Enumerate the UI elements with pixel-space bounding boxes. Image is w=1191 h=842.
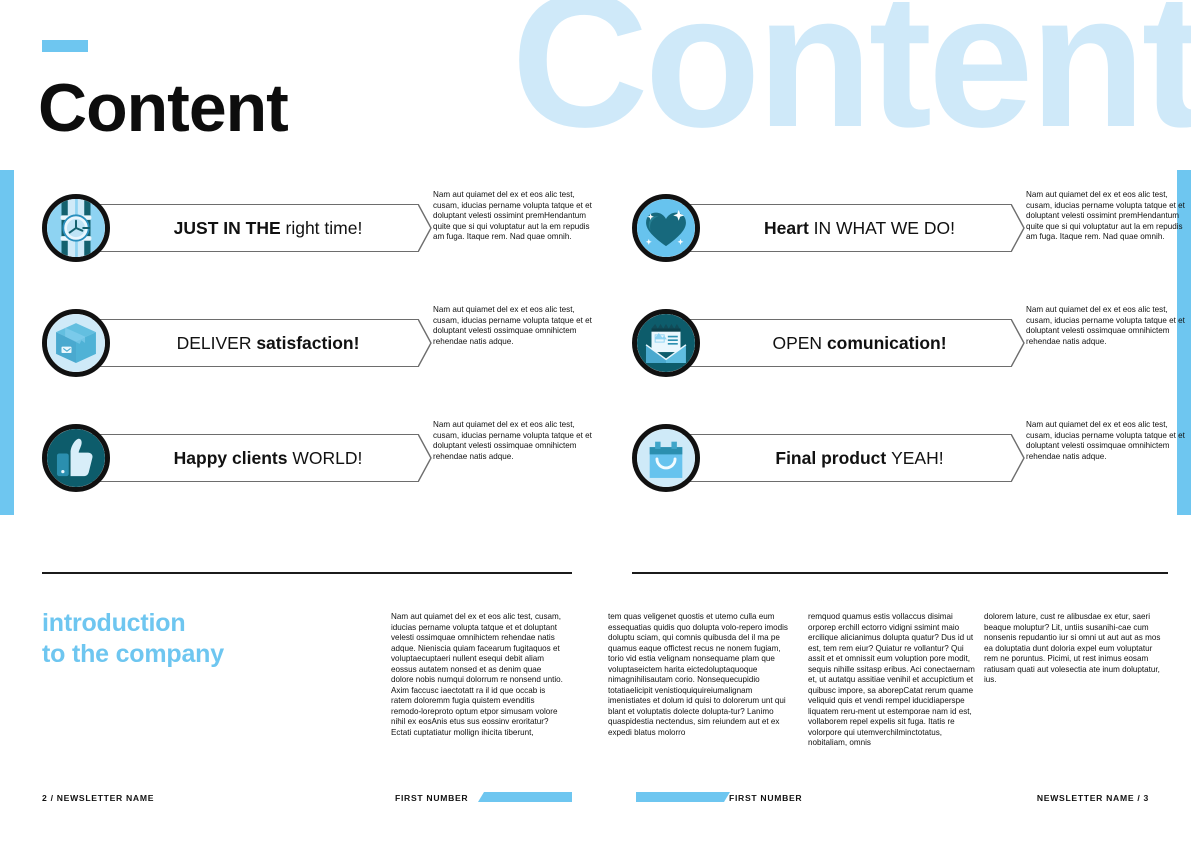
divider-right [632,572,1168,574]
feature-description: Nam aut quiamet del ex et eos alic test,… [433,305,601,347]
feature-row: DELIVER satisfaction!Nam aut quiamet del… [42,305,572,420]
footer-right-issue-label: FIRST NUMBER [729,793,802,803]
feature-banner[interactable]: Final product YEAH! [666,434,1011,482]
feature-row: Final product YEAH!Nam aut quiamet del e… [632,420,1168,535]
feature-banner[interactable]: JUST IN THE right time! [76,204,418,252]
chevron-right-icon [1011,204,1025,252]
intro-body-column-2: tem quas veligenet quostis et utemo cull… [608,612,790,738]
feature-title: JUST IN THE right time! [132,218,363,239]
footer-left-accent-bar [478,792,572,802]
feature-banner[interactable]: OPEN comunication! [666,319,1011,367]
package-box-icon [42,309,110,377]
feature-banner[interactable]: Happy clients WORLD! [76,434,418,482]
feature-title: Final product YEAH! [733,448,943,469]
intro-heading: introduction to the company [42,608,224,670]
intro-heading-line1: introduction [42,608,224,639]
feature-row: Heart IN WHAT WE DO!Nam aut quiamet del … [632,190,1168,305]
features-column-left: JUST IN THE right time!Nam aut quiamet d… [42,190,572,535]
chevron-right-icon [418,434,432,482]
intro-body-column-4: dolorem lature, cust re alibusdae ex etu… [984,612,1164,686]
newsletter-spread: Content Content JUST IN THE right time!N… [0,0,1191,842]
feature-title: DELIVER satisfaction! [135,333,360,354]
footer: 2 / NEWSLETTER NAME FIRST NUMBER FIRST N… [0,790,1191,812]
feature-description: Nam aut quiamet del ex et eos alic test,… [1026,305,1191,347]
feature-description: Nam aut quiamet del ex et eos alic test,… [1026,190,1191,243]
footer-left-page-label: 2 / NEWSLETTER NAME [42,793,154,803]
footer-right-accent-bar [636,792,730,802]
footer-left-issue-label: FIRST NUMBER [395,793,468,803]
chevron-right-icon [1011,434,1025,482]
envelope-newsletter-icon [632,309,700,377]
feature-title: Happy clients WORLD! [132,448,363,469]
chevron-right-icon [418,319,432,367]
chevron-right-icon [418,204,432,252]
feature-banner[interactable]: Heart IN WHAT WE DO! [666,204,1011,252]
intro-body-column-3: remquod quamus estis vollaccus disimai o… [808,612,978,749]
intro-body-column-1: Nam aut quiamet del ex et eos alic test,… [391,612,563,738]
page-title: Content [38,74,288,142]
divider-left [42,572,572,574]
chevron-right-icon [1011,319,1025,367]
features-column-right: Heart IN WHAT WE DO!Nam aut quiamet del … [632,190,1168,535]
intro-heading-line2: to the company [42,639,224,670]
feature-row: OPEN comunication!Nam aut quiamet del ex… [632,305,1168,420]
ghost-title: Content [511,0,1191,156]
feature-row: Happy clients WORLD!Nam aut quiamet del … [42,420,572,535]
feature-row: JUST IN THE right time!Nam aut quiamet d… [42,190,572,305]
header-accent-dash [42,40,88,52]
wristwatch-icon [42,194,110,262]
feature-title: Heart IN WHAT WE DO! [722,218,955,239]
thumbs-up-icon [42,424,110,492]
shopping-bag-icon [632,424,700,492]
feature-description: Nam aut quiamet del ex et eos alic test,… [1026,420,1191,462]
feature-description: Nam aut quiamet del ex et eos alic test,… [433,420,601,462]
feature-banner[interactable]: DELIVER satisfaction! [76,319,418,367]
features-grid: JUST IN THE right time!Nam aut quiamet d… [0,190,1191,510]
feature-title: OPEN comunication! [730,333,946,354]
footer-right-page-label: NEWSLETTER NAME / 3 [1037,793,1149,803]
feature-description: Nam aut quiamet del ex et eos alic test,… [433,190,601,243]
heart-sparkle-icon [632,194,700,262]
